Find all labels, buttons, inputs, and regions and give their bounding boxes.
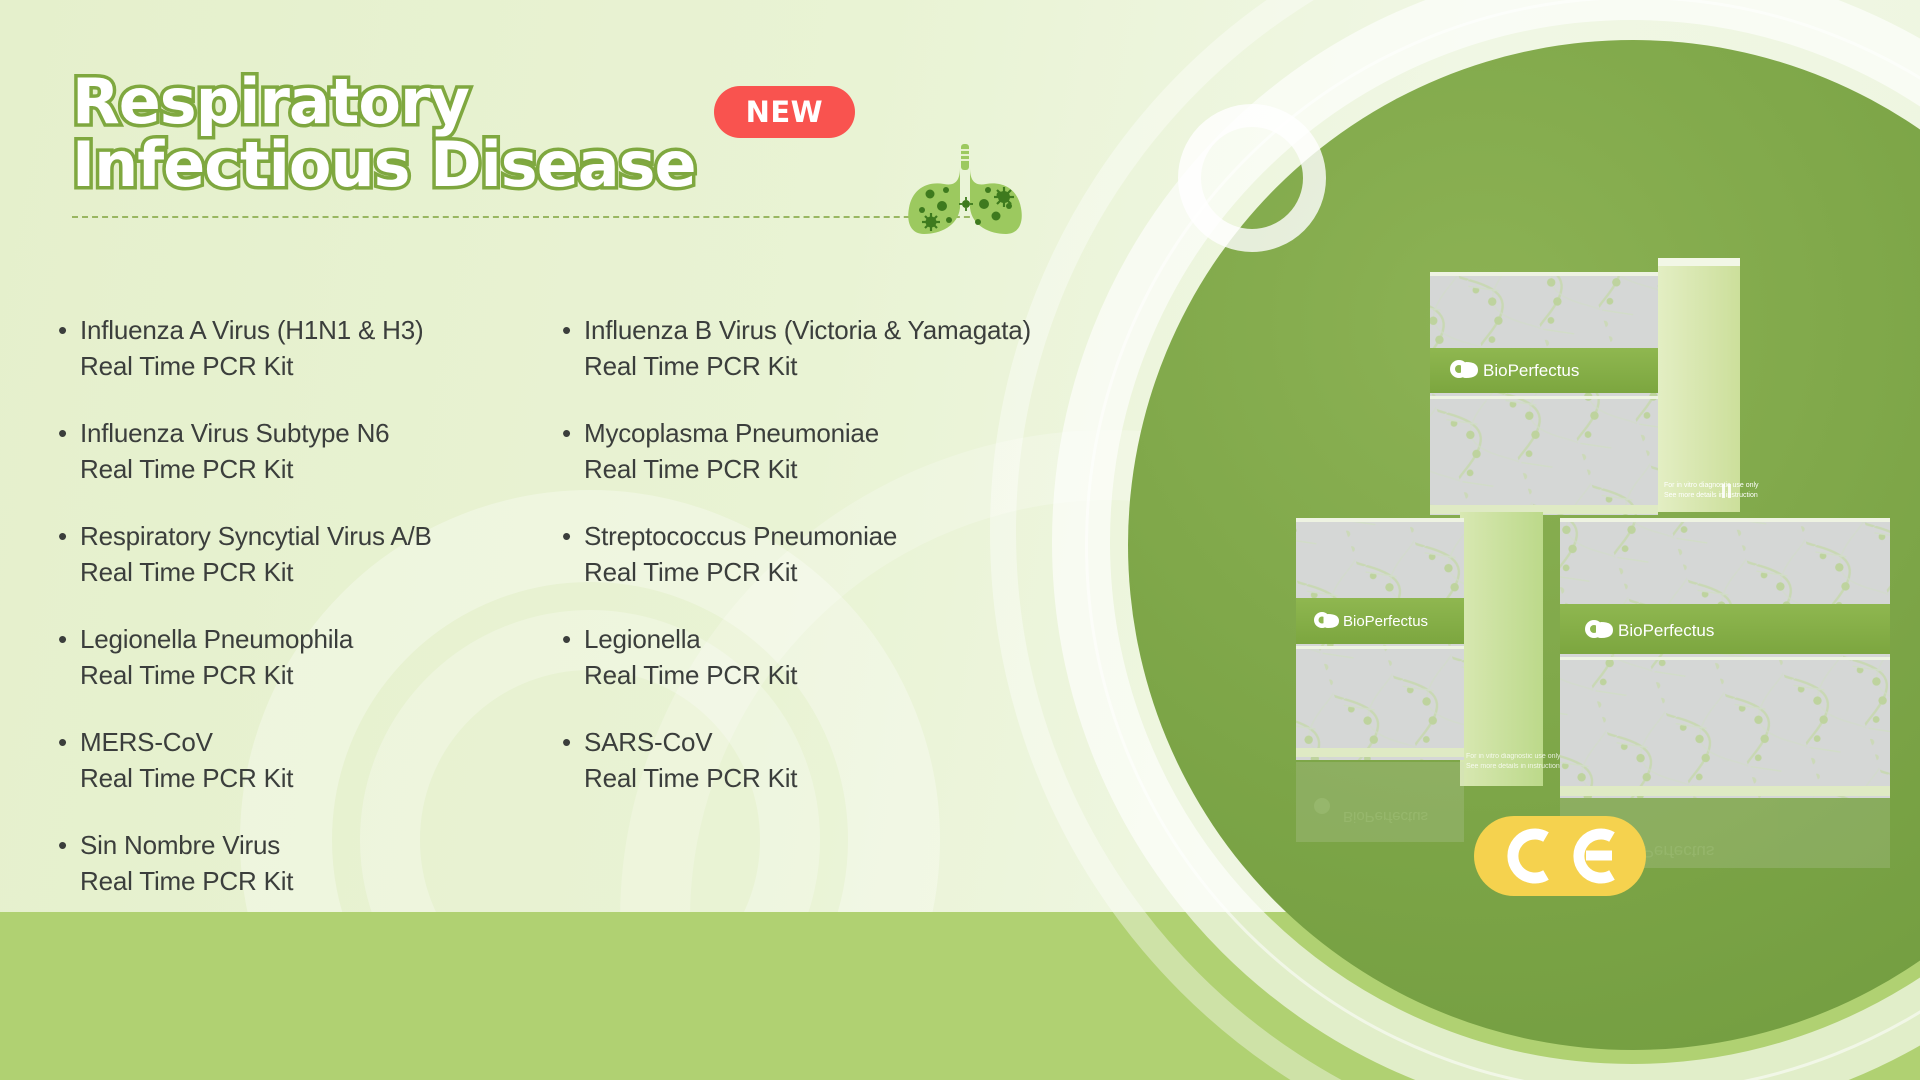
list-item[interactable]: • Sin Nombre Virus Real Time PCR Kit xyxy=(58,827,528,899)
list-item[interactable]: • Legionella Real Time PCR Kit xyxy=(562,621,1082,693)
list-bullet: • xyxy=(562,621,584,693)
ce-icon xyxy=(1500,828,1620,884)
product-list-right: • Influenza B Virus (Victoria & Yamagata… xyxy=(562,312,1082,930)
list-item-text: Streptococcus Pneumoniae Real Time PCR K… xyxy=(584,518,897,590)
product-sub: Real Time PCR Kit xyxy=(584,763,797,793)
list-bullet: • xyxy=(58,621,80,693)
list-item[interactable]: • MERS-CoV Real Time PCR Kit xyxy=(58,724,528,796)
product-sub: Real Time PCR Kit xyxy=(80,351,293,381)
product-name: Influenza A Virus (H1N1 & H3) xyxy=(80,315,423,345)
list-item[interactable]: • Legionella Pneumophila Real Time PCR K… xyxy=(58,621,528,693)
list-item-text: SARS-CoV Real Time PCR Kit xyxy=(584,724,797,796)
title-line-1: Respiratory xyxy=(72,65,469,138)
product-sub: Real Time PCR Kit xyxy=(584,660,797,690)
list-bullet: • xyxy=(58,827,80,899)
title-divider xyxy=(72,216,1020,218)
list-item[interactable]: • SARS-CoV Real Time PCR Kit xyxy=(562,724,1082,796)
list-item-text: Sin Nombre Virus Real Time PCR Kit xyxy=(80,827,293,899)
list-bullet: • xyxy=(58,312,80,384)
list-bullet: • xyxy=(562,312,584,384)
product-sub: Real Time PCR Kit xyxy=(80,557,293,587)
product-name: SARS-CoV xyxy=(584,727,712,757)
product-name: Influenza Virus Subtype N6 xyxy=(80,418,389,448)
product-sub: Real Time PCR Kit xyxy=(80,660,293,690)
product-name: Respiratory Syncytial Virus A/B xyxy=(80,521,432,551)
list-item[interactable]: • Influenza A Virus (H1N1 & H3) Real Tim… xyxy=(58,312,528,384)
product-name: Sin Nombre Virus xyxy=(80,830,280,860)
product-name: Streptococcus Pneumoniae xyxy=(584,521,897,551)
list-item-text: Influenza B Virus (Victoria & Yamagata) … xyxy=(584,312,1031,384)
list-bullet: • xyxy=(562,724,584,796)
list-item[interactable]: • Mycoplasma Pneumoniae Real Time PCR Ki… xyxy=(562,415,1082,487)
list-item[interactable]: • Streptococcus Pneumoniae Real Time PCR… xyxy=(562,518,1082,590)
product-name: Mycoplasma Pneumoniae xyxy=(584,418,879,448)
product-sub: Real Time PCR Kit xyxy=(584,557,797,587)
product-lists: • Influenza A Virus (H1N1 & H3) Real Tim… xyxy=(58,312,1082,930)
ce-mark-badge xyxy=(1474,816,1646,896)
product-name: Legionella xyxy=(584,624,701,654)
list-bullet: • xyxy=(58,518,80,590)
list-item[interactable]: • Respiratory Syncytial Virus A/B Real T… xyxy=(58,518,528,590)
product-name: Legionella Pneumophila xyxy=(80,624,353,654)
list-item-text: Mycoplasma Pneumoniae Real Time PCR Kit xyxy=(584,415,879,487)
list-item[interactable]: • Influenza B Virus (Victoria & Yamagata… xyxy=(562,312,1082,384)
list-bullet: • xyxy=(58,724,80,796)
list-item[interactable]: • Influenza Virus Subtype N6 Real Time P… xyxy=(58,415,528,487)
product-sub: Real Time PCR Kit xyxy=(584,351,797,381)
list-item-text: Legionella Real Time PCR Kit xyxy=(584,621,797,693)
new-badge: NEW xyxy=(714,86,856,138)
list-item-text: Influenza Virus Subtype N6 Real Time PCR… xyxy=(80,415,389,487)
banner-stage: Respiratory Infectious Disease NEW xyxy=(0,0,1920,1080)
list-item-text: Influenza A Virus (H1N1 & H3) Real Time … xyxy=(80,312,423,384)
list-item-text: MERS-CoV Real Time PCR Kit xyxy=(80,724,293,796)
product-sub: Real Time PCR Kit xyxy=(80,866,293,896)
list-bullet: • xyxy=(562,415,584,487)
lungs-virus-icon xyxy=(900,142,1030,242)
list-item-text: Respiratory Syncytial Virus A/B Real Tim… xyxy=(80,518,432,590)
product-list-left: • Influenza A Virus (H1N1 & H3) Real Tim… xyxy=(58,312,528,930)
product-sub: Real Time PCR Kit xyxy=(80,763,293,793)
title-line-2: Infectious Disease xyxy=(72,133,696,196)
list-item-text: Legionella Pneumophila Real Time PCR Kit xyxy=(80,621,353,693)
page-title: Respiratory Infectious Disease xyxy=(72,70,696,196)
product-name: Influenza B Virus (Victoria & Yamagata) xyxy=(584,315,1031,345)
small-white-ring xyxy=(1178,104,1326,252)
product-sub: Real Time PCR Kit xyxy=(584,454,797,484)
list-bullet: • xyxy=(562,518,584,590)
list-bullet: • xyxy=(58,415,80,487)
product-sub: Real Time PCR Kit xyxy=(80,454,293,484)
product-name: MERS-CoV xyxy=(80,727,213,757)
